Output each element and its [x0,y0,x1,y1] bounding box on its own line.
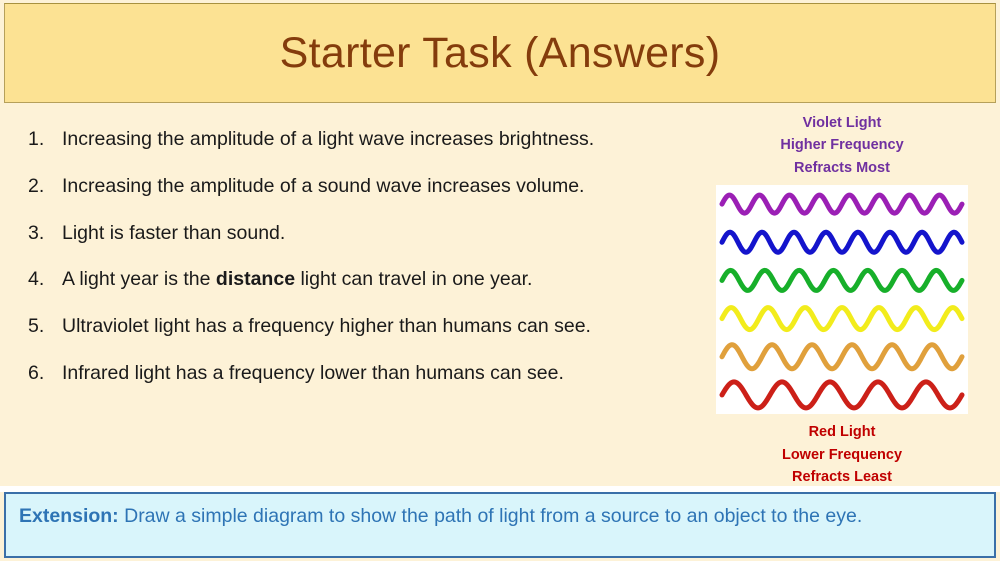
list-item-text-before: A light year is the [62,268,216,290]
list-item-bold-word: distance [216,268,295,290]
slide-title-bar: Starter Task (Answers) [4,3,996,103]
spectrum-top-caption: Violet Light Higher Frequency Refracts M… [716,112,968,179]
list-item-number: 1. [24,126,62,152]
wave-panel-background [716,185,968,414]
wave-svg [716,185,968,414]
list-item-number: 3. [24,220,62,246]
spectrum-top-caption-line2: Higher Frequency [716,134,968,156]
spectrum-bottom-caption: Red Light Lower Frequency Refracts Least [716,421,968,488]
list-item-number: 6. [24,360,62,386]
extension-label: Extension: [19,505,119,527]
spectrum-bottom-caption-line1: Red Light [716,421,968,443]
list-item: 1. Increasing the amplitude of a light w… [24,126,704,152]
list-item: 3. Light is faster than sound. [24,220,704,246]
page-title: Starter Task (Answers) [280,29,721,78]
slide-body: 1. Increasing the amplitude of a light w… [0,104,1000,486]
answer-list: 1. Increasing the amplitude of a light w… [24,126,704,407]
list-item-text-after: light can travel in one year. [295,268,532,290]
extension-text: Extension: Draw a simple diagram to show… [19,503,981,531]
list-item: 4. A light year is the distance light ca… [24,266,704,292]
list-item-number: 5. [24,313,62,339]
list-item-text: A light year is the distance light can t… [62,266,704,292]
extension-body: Draw a simple diagram to show the path o… [119,505,863,527]
extension-box: Extension: Draw a simple diagram to show… [4,492,996,558]
list-item: 5. Ultraviolet light has a frequency hig… [24,313,704,339]
list-item-number: 4. [24,266,62,292]
spectrum-diagram: Violet Light Higher Frequency Refracts M… [716,112,968,489]
list-item-text: Infrared light has a frequency lower tha… [62,360,704,386]
spectrum-top-caption-line3: Refracts Most [716,157,968,179]
list-item-text: Ultraviolet light has a frequency higher… [62,313,704,339]
list-item: 6. Infrared light has a frequency lower … [24,360,704,386]
list-item-text: Increasing the amplitude of a sound wave… [62,173,704,199]
slide: Starter Task (Answers) 1. Increasing the… [0,0,1000,561]
list-item: 2. Increasing the amplitude of a sound w… [24,173,704,199]
spectrum-bottom-caption-line2: Lower Frequency [716,444,968,466]
wave-panel [716,185,968,414]
spectrum-top-caption-line1: Violet Light [716,112,968,134]
list-item-text: Light is faster than sound. [62,220,704,246]
list-item-number: 2. [24,173,62,199]
list-item-text: Increasing the amplitude of a light wave… [62,126,704,152]
